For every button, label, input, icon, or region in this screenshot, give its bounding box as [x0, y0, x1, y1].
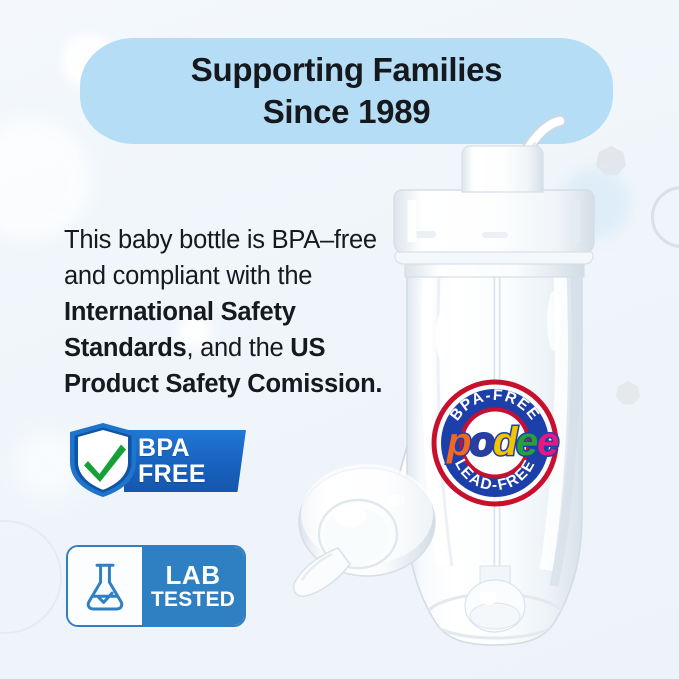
body-segment-2: , and the	[186, 334, 290, 362]
decorative-ring-faint	[0, 520, 62, 634]
lab-badge-line-1: LAB	[166, 562, 221, 589]
bpa-badge-line-2: FREE	[138, 461, 246, 487]
podee-logo: BPA-FREE LEAD-FREE p o d e e	[432, 380, 559, 506]
headline-line-1: Supporting Families	[191, 49, 503, 91]
lab-badge-text: LAB TESTED	[142, 547, 244, 625]
bpa-badge-text: BPA FREE	[138, 432, 246, 490]
bpa-badge-line-1: BPA	[138, 435, 246, 461]
shield-check-icon	[66, 420, 140, 500]
bottle-nipple-assembly	[294, 464, 435, 596]
svg-text:p: p	[446, 420, 471, 464]
svg-text:e: e	[537, 420, 559, 464]
badge-lab-tested: LAB TESTED	[66, 545, 246, 627]
product-image-baby-bottle: BPA-FREE LEAD-FREE p o d e e	[292, 96, 679, 679]
svg-text:e: e	[516, 420, 538, 464]
badge-bpa-free: BPA FREE	[66, 420, 246, 500]
flask-check-icon	[68, 547, 142, 625]
product-marketing-image: Supporting Families Since 1989 This baby…	[0, 0, 679, 679]
svg-text:o: o	[470, 420, 494, 464]
lab-badge-line-2: TESTED	[151, 589, 235, 610]
